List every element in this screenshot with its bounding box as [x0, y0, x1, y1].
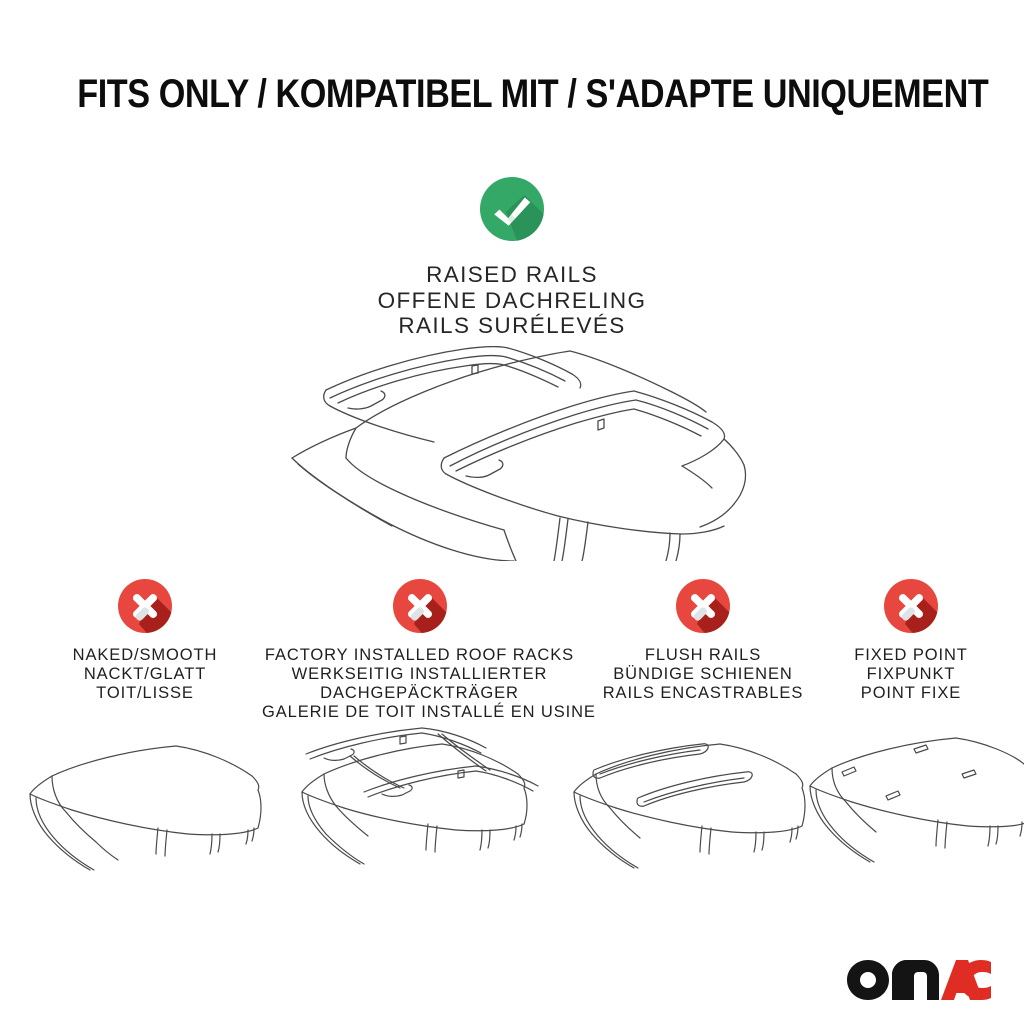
rejected-label-fr: RAILS ENCASTRABLES	[592, 684, 814, 703]
rejected-label-de-1: WERKSEITIG INSTALLIERTER	[262, 665, 577, 684]
car-roof-factory-racks-illustration	[272, 726, 550, 900]
x-circle-icon	[675, 578, 731, 634]
rejected-label-en: FIXED POINT	[828, 646, 994, 665]
rejected-labels-naked-smooth: NAKED/SMOOTH NACKT/GLATT TOIT/LISSE	[22, 646, 268, 703]
rejected-option-fixed-point: FIXED POINT FIXPUNKT POINT FIXE	[828, 578, 994, 703]
rejected-option-naked-smooth: NAKED/SMOOTH NACKT/GLATT TOIT/LISSE	[22, 578, 268, 703]
page-title-text: FITS ONLY / KOMPATIBEL MIT / S'ADAPTE UN…	[77, 72, 988, 117]
rejected-label-fr: TOIT/LISSE	[22, 684, 268, 703]
approved-option: RAISED RAILS OFFENE DACHRELING RAILS SUR…	[0, 176, 1024, 339]
rejected-label-en: FACTORY INSTALLED ROOF RACKS	[262, 646, 577, 665]
approved-label-fr: RAILS SURÉLEVÉS	[0, 313, 1024, 339]
car-roof-fixed-point-illustration	[798, 734, 1024, 898]
car-roof-flush-rails-illustration	[552, 736, 828, 898]
rejected-label-fr: POINT FIXE	[828, 684, 994, 703]
rejected-label-de: NACKT/GLATT	[22, 665, 268, 684]
rejected-label-de-2: DACHGEPÄCKTRÄGER	[262, 684, 577, 703]
car-roof-naked-smooth-illustration	[8, 740, 276, 900]
x-circle-icon	[883, 578, 939, 634]
x-circle-icon	[392, 578, 448, 634]
approved-label-en: RAISED RAILS	[0, 262, 1024, 288]
omac-logo	[846, 958, 992, 1002]
compatibility-infographic: FITS ONLY / KOMPATIBEL MIT / S'ADAPTE UN…	[0, 0, 1024, 1024]
check-circle-icon	[479, 176, 545, 242]
rejected-label-de: BÜNDIGE SCHIENEN	[592, 665, 814, 684]
approved-label-de: OFFENE DACHRELING	[0, 288, 1024, 314]
rejected-labels-flush-rails: FLUSH RAILS BÜNDIGE SCHIENEN RAILS ENCAS…	[592, 646, 814, 703]
rejected-label-de: FIXPUNKT	[828, 665, 994, 684]
x-circle-icon	[117, 578, 173, 634]
rejected-option-factory-racks: FACTORY INSTALLED ROOF RACKS WERKSEITIG …	[262, 578, 577, 722]
page-title: FITS ONLY / KOMPATIBEL MIT / S'ADAPTE UN…	[0, 72, 1024, 117]
rejected-option-flush-rails: FLUSH RAILS BÜNDIGE SCHIENEN RAILS ENCAS…	[592, 578, 814, 703]
rejected-label-fr: GALERIE DE TOIT INSTALLÉ EN USINE	[262, 703, 577, 722]
rejected-labels-factory-racks: FACTORY INSTALLED ROOF RACKS WERKSEITIG …	[262, 646, 577, 722]
rejected-label-en: NAKED/SMOOTH	[22, 646, 268, 665]
approved-labels: RAISED RAILS OFFENE DACHRELING RAILS SUR…	[0, 262, 1024, 339]
car-roof-raised-rails-illustration	[268, 346, 768, 561]
rejected-label-en: FLUSH RAILS	[592, 646, 814, 665]
rejected-labels-fixed-point: FIXED POINT FIXPUNKT POINT FIXE	[828, 646, 994, 703]
